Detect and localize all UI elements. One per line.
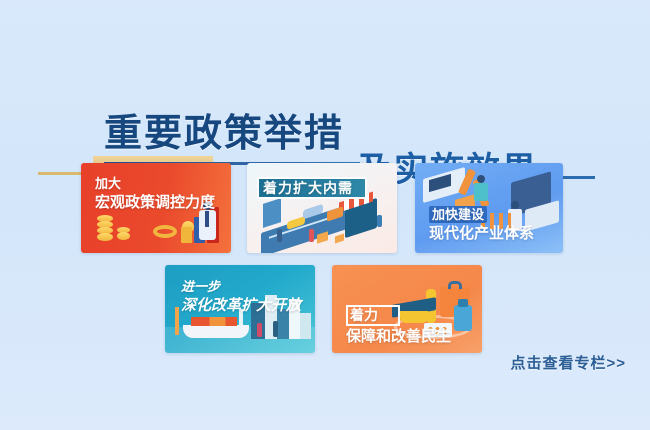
briefcase-handle-icon (448, 281, 462, 289)
package-box-icon (317, 231, 328, 244)
cargo-ship-icon (183, 325, 249, 338)
cargo-containers-icon (191, 317, 237, 326)
bar-chart-bar (181, 227, 192, 243)
banner-title-line1: 重要政策举措 (104, 114, 344, 152)
card-macro-label-main: 宏观政策调控力度 (95, 194, 215, 213)
person-figure-tie (205, 211, 209, 227)
pedestrian-icon (309, 229, 314, 242)
card-macro-label-top: 加大 (95, 176, 121, 192)
pedestrian-icon (273, 321, 278, 337)
crane-tower-icon (175, 307, 179, 335)
card-industry-label-main: 现代化产业体系 (429, 225, 534, 244)
view-column-link[interactable]: 点击查看专栏>> (510, 352, 626, 373)
coin-stack-small-icon (117, 232, 130, 240)
skyline-building-shape (300, 313, 311, 339)
worker-figure-icon (477, 175, 485, 183)
pedestrian-icon (257, 323, 262, 337)
card-expand-demand[interactable]: 着力扩大内需 (247, 163, 397, 253)
pedestrian-icon (277, 229, 282, 242)
medicine-bottle-cap-icon (458, 299, 468, 307)
card-deepen-reform[interactable]: 进一步 深化改革扩大开放 (165, 265, 315, 353)
package-box-icon (335, 234, 344, 244)
coin-ring-icon (153, 225, 177, 238)
worker-figure-body (474, 183, 488, 201)
card-improve-livelihood[interactable]: 着力 保障和改善民生 (332, 265, 482, 353)
coin-stack-icon (97, 233, 113, 241)
robot-arm-icon (497, 173, 504, 197)
building-shape (263, 198, 281, 228)
graduation-cap-base-icon (400, 311, 428, 323)
card-reform-label-top: 进一步 (181, 279, 220, 295)
policy-banner: 重要政策举措 及实施效果 加大 宏观政策调控力度 (0, 0, 650, 430)
card-demand-label-main: 着力扩大内需 (263, 180, 353, 198)
card-reform-label-main: 深化改革扩大开放 (181, 297, 301, 316)
card-livelihood-label-top: 着力 (350, 307, 378, 325)
worker-figure-icon (511, 201, 519, 209)
card-industry-label-top-text: 加快建设 (429, 206, 487, 223)
banner-title-block: 重要政策举措 及实施效果 (0, 58, 650, 148)
medicine-bottle-icon (454, 305, 472, 331)
card-macro-policy[interactable]: 加大 宏观政策调控力度 (81, 163, 231, 253)
card-modern-industry[interactable]: 加快建设 现代化产业体系 (415, 163, 563, 253)
card-industry-label-top: 加快建设 (429, 207, 487, 223)
card-livelihood-label-main: 保障和改善民生 (346, 328, 451, 347)
pedestrian-icon (377, 215, 382, 227)
